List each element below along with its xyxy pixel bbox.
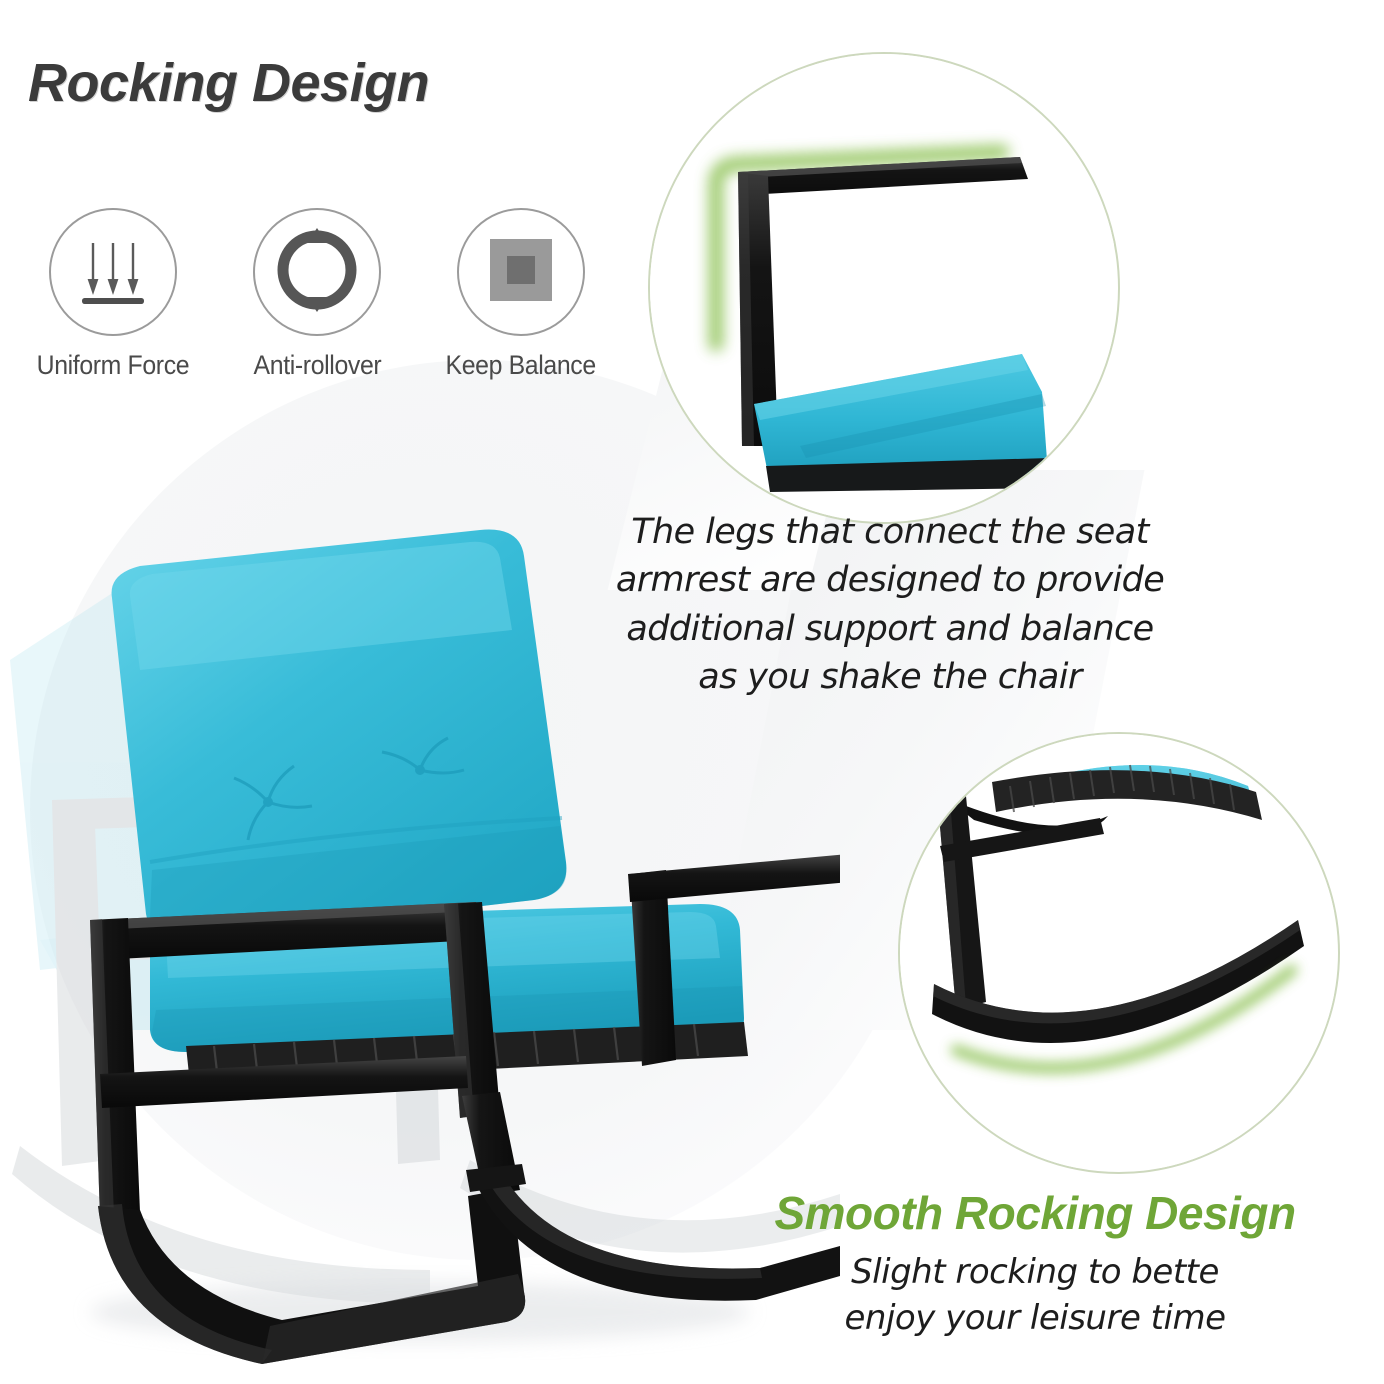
feature-ring	[253, 208, 381, 336]
downward-arrows-on-bar-icon	[70, 227, 156, 318]
lead-line: as you shake the chair	[600, 653, 1180, 701]
nested-squares-icon	[482, 231, 560, 314]
smooth-rocking-subtext: Slight rocking to bette enjoy your leisu…	[690, 1250, 1380, 1342]
lead-line: armrest are designed to provide	[600, 556, 1180, 604]
armrest-frame-closeup-inset	[648, 52, 1120, 524]
smooth-sub-line: Slight rocking to bette	[690, 1250, 1380, 1296]
feature-item-anti-rollover: Anti-rollover	[226, 208, 408, 381]
feature-ring	[49, 208, 177, 336]
lead-paragraph: The legs that connect the seat armrest a…	[600, 508, 1180, 701]
circular-rotation-arrows-icon	[271, 224, 363, 321]
lead-line: additional support and balance	[600, 605, 1180, 653]
rocker-base-illustration	[900, 734, 1334, 1168]
product-infographic: Rocking Design	[0, 0, 1384, 1384]
smooth-rocking-title: Smooth Rocking Design	[690, 1186, 1380, 1240]
feature-label: Keep Balance	[446, 350, 596, 381]
smooth-rocking-caption: Smooth Rocking Design Slight rocking to …	[690, 1186, 1380, 1342]
smooth-sub-line: enjoy your leisure time	[690, 1296, 1380, 1342]
feature-ring	[457, 208, 585, 336]
page-title: Rocking Design	[28, 52, 429, 114]
feature-item-uniform-force: Uniform Force	[22, 208, 204, 381]
armrest-frame-illustration	[650, 54, 1114, 518]
lead-line: The legs that connect the seat	[600, 508, 1180, 556]
feature-list: Uniform Force Anti-rollover	[22, 208, 612, 381]
feature-label: Anti-rollover	[253, 350, 381, 381]
rocker-base-closeup-inset	[898, 732, 1340, 1174]
feature-item-keep-balance: Keep Balance	[430, 208, 612, 381]
back-cushion	[112, 530, 567, 941]
feature-label: Uniform Force	[37, 350, 190, 381]
